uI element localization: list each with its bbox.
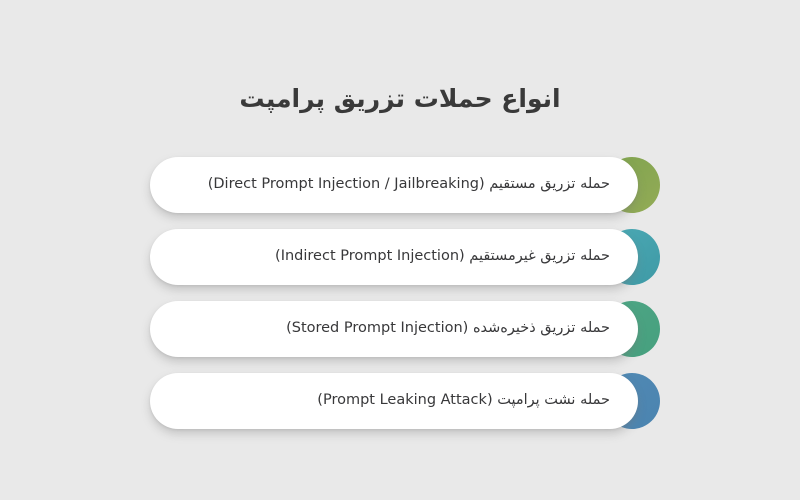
list-item[interactable]: حمله تزریق مستقیم (Direct Prompt Injecti… (150, 157, 660, 213)
list-item-label: حمله نشت پرامپت (Prompt Leaking Attack) (174, 392, 610, 409)
list-item-label: حمله تزریق ذخیره‌شده (Stored Prompt Inje… (174, 320, 610, 337)
list-item-label: حمله تزریق مستقیم (Direct Prompt Injecti… (174, 176, 610, 193)
list-item-label: حمله تزریق غیرمستقیم (Indirect Prompt In… (174, 248, 610, 265)
list-item-pill-4[interactable]: حمله نشت پرامپت (Prompt Leaking Attack) (150, 373, 638, 429)
list-item-pill-1[interactable]: حمله تزریق مستقیم (Direct Prompt Injecti… (150, 157, 638, 213)
page-title: انواع حملات تزریق پرامپت (0, 84, 800, 113)
list-item[interactable]: حمله تزریق ذخیره‌شده (Stored Prompt Inje… (150, 301, 660, 357)
list-item-pill-3[interactable]: حمله تزریق ذخیره‌شده (Stored Prompt Inje… (150, 301, 638, 357)
list-item[interactable]: حمله تزریق غیرمستقیم (Indirect Prompt In… (150, 229, 660, 285)
list-item[interactable]: حمله نشت پرامپت (Prompt Leaking Attack) (150, 373, 660, 429)
attack-type-list: حمله تزریق مستقیم (Direct Prompt Injecti… (150, 157, 660, 445)
infographic-root: انواع حملات تزریق پرامپت حمله تزریق مستق… (0, 0, 800, 500)
list-item-pill-2[interactable]: حمله تزریق غیرمستقیم (Indirect Prompt In… (150, 229, 638, 285)
